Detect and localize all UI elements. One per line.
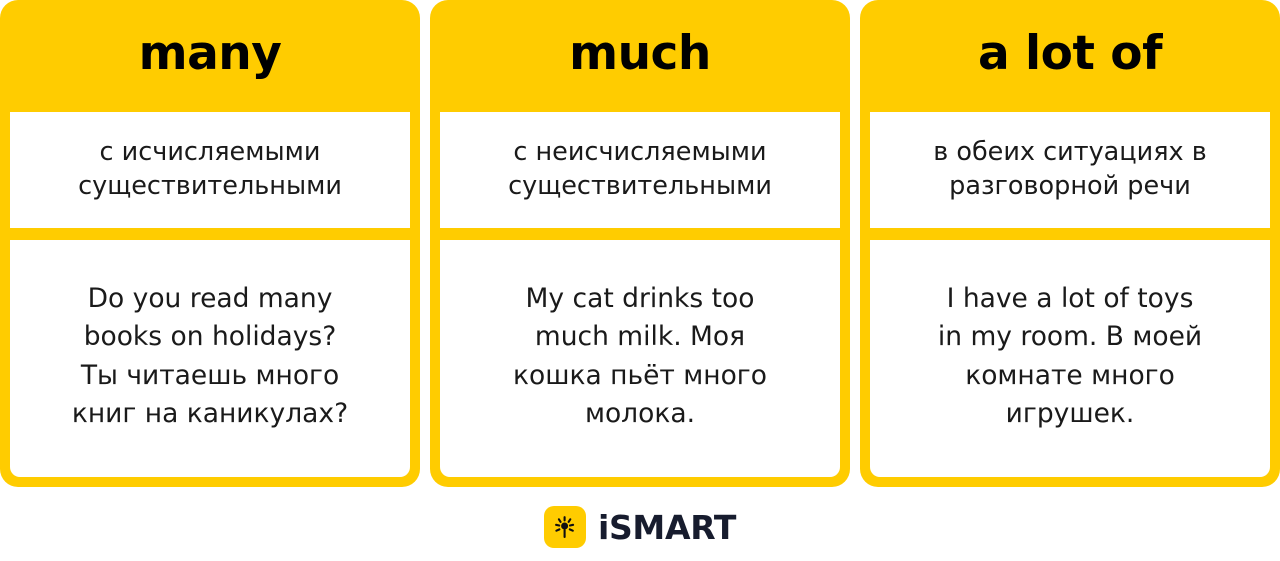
card-example-box: I have a lot of toys in my room. В моей … xyxy=(870,240,1270,477)
brand-logo: iSMART xyxy=(0,497,1280,557)
card-divider xyxy=(870,228,1270,240)
card-example-text: I have a lot of toys in my room. В моей … xyxy=(938,280,1202,433)
card-divider xyxy=(440,228,840,240)
card-example-box: Do you read many books on holidays? Ты ч… xyxy=(10,240,410,477)
card-example-text: My cat drinks too much milk. Моя кошка п… xyxy=(513,280,767,433)
grammar-card-much: much с неисчисляемыми существительными M… xyxy=(430,0,850,487)
card-definition-box: в обеих ситуациях в разговорной речи xyxy=(870,112,1270,228)
card-title: a lot of xyxy=(870,0,1270,112)
brand-logo-mark xyxy=(544,506,586,548)
sun-sparkle-icon xyxy=(551,513,579,541)
card-title: many xyxy=(10,0,410,112)
card-definition-text: в обеих ситуациях в разговорной речи xyxy=(933,136,1207,203)
card-definition-box: с неисчисляемыми существительными xyxy=(440,112,840,228)
grammar-card-many: many с исчисляемыми существительными Do … xyxy=(0,0,420,487)
card-example-box: My cat drinks too much milk. Моя кошка п… xyxy=(440,240,840,477)
card-definition-box: с исчисляемыми существительными xyxy=(10,112,410,228)
card-definition-text: с исчисляемыми существительными xyxy=(78,136,342,203)
grammar-card-a-lot-of: a lot of в обеих ситуациях в разговорной… xyxy=(860,0,1280,487)
brand-name: iSMART xyxy=(598,511,736,544)
card-example-text: Do you read many books on holidays? Ты ч… xyxy=(72,280,348,433)
card-title: much xyxy=(440,0,840,112)
grammar-cards-row: many с исчисляемыми существительными Do … xyxy=(0,0,1280,487)
infographic-poster: many с исчисляемыми существительными Do … xyxy=(0,0,1280,561)
card-divider xyxy=(10,228,410,240)
card-definition-text: с неисчисляемыми существительными xyxy=(508,136,772,203)
